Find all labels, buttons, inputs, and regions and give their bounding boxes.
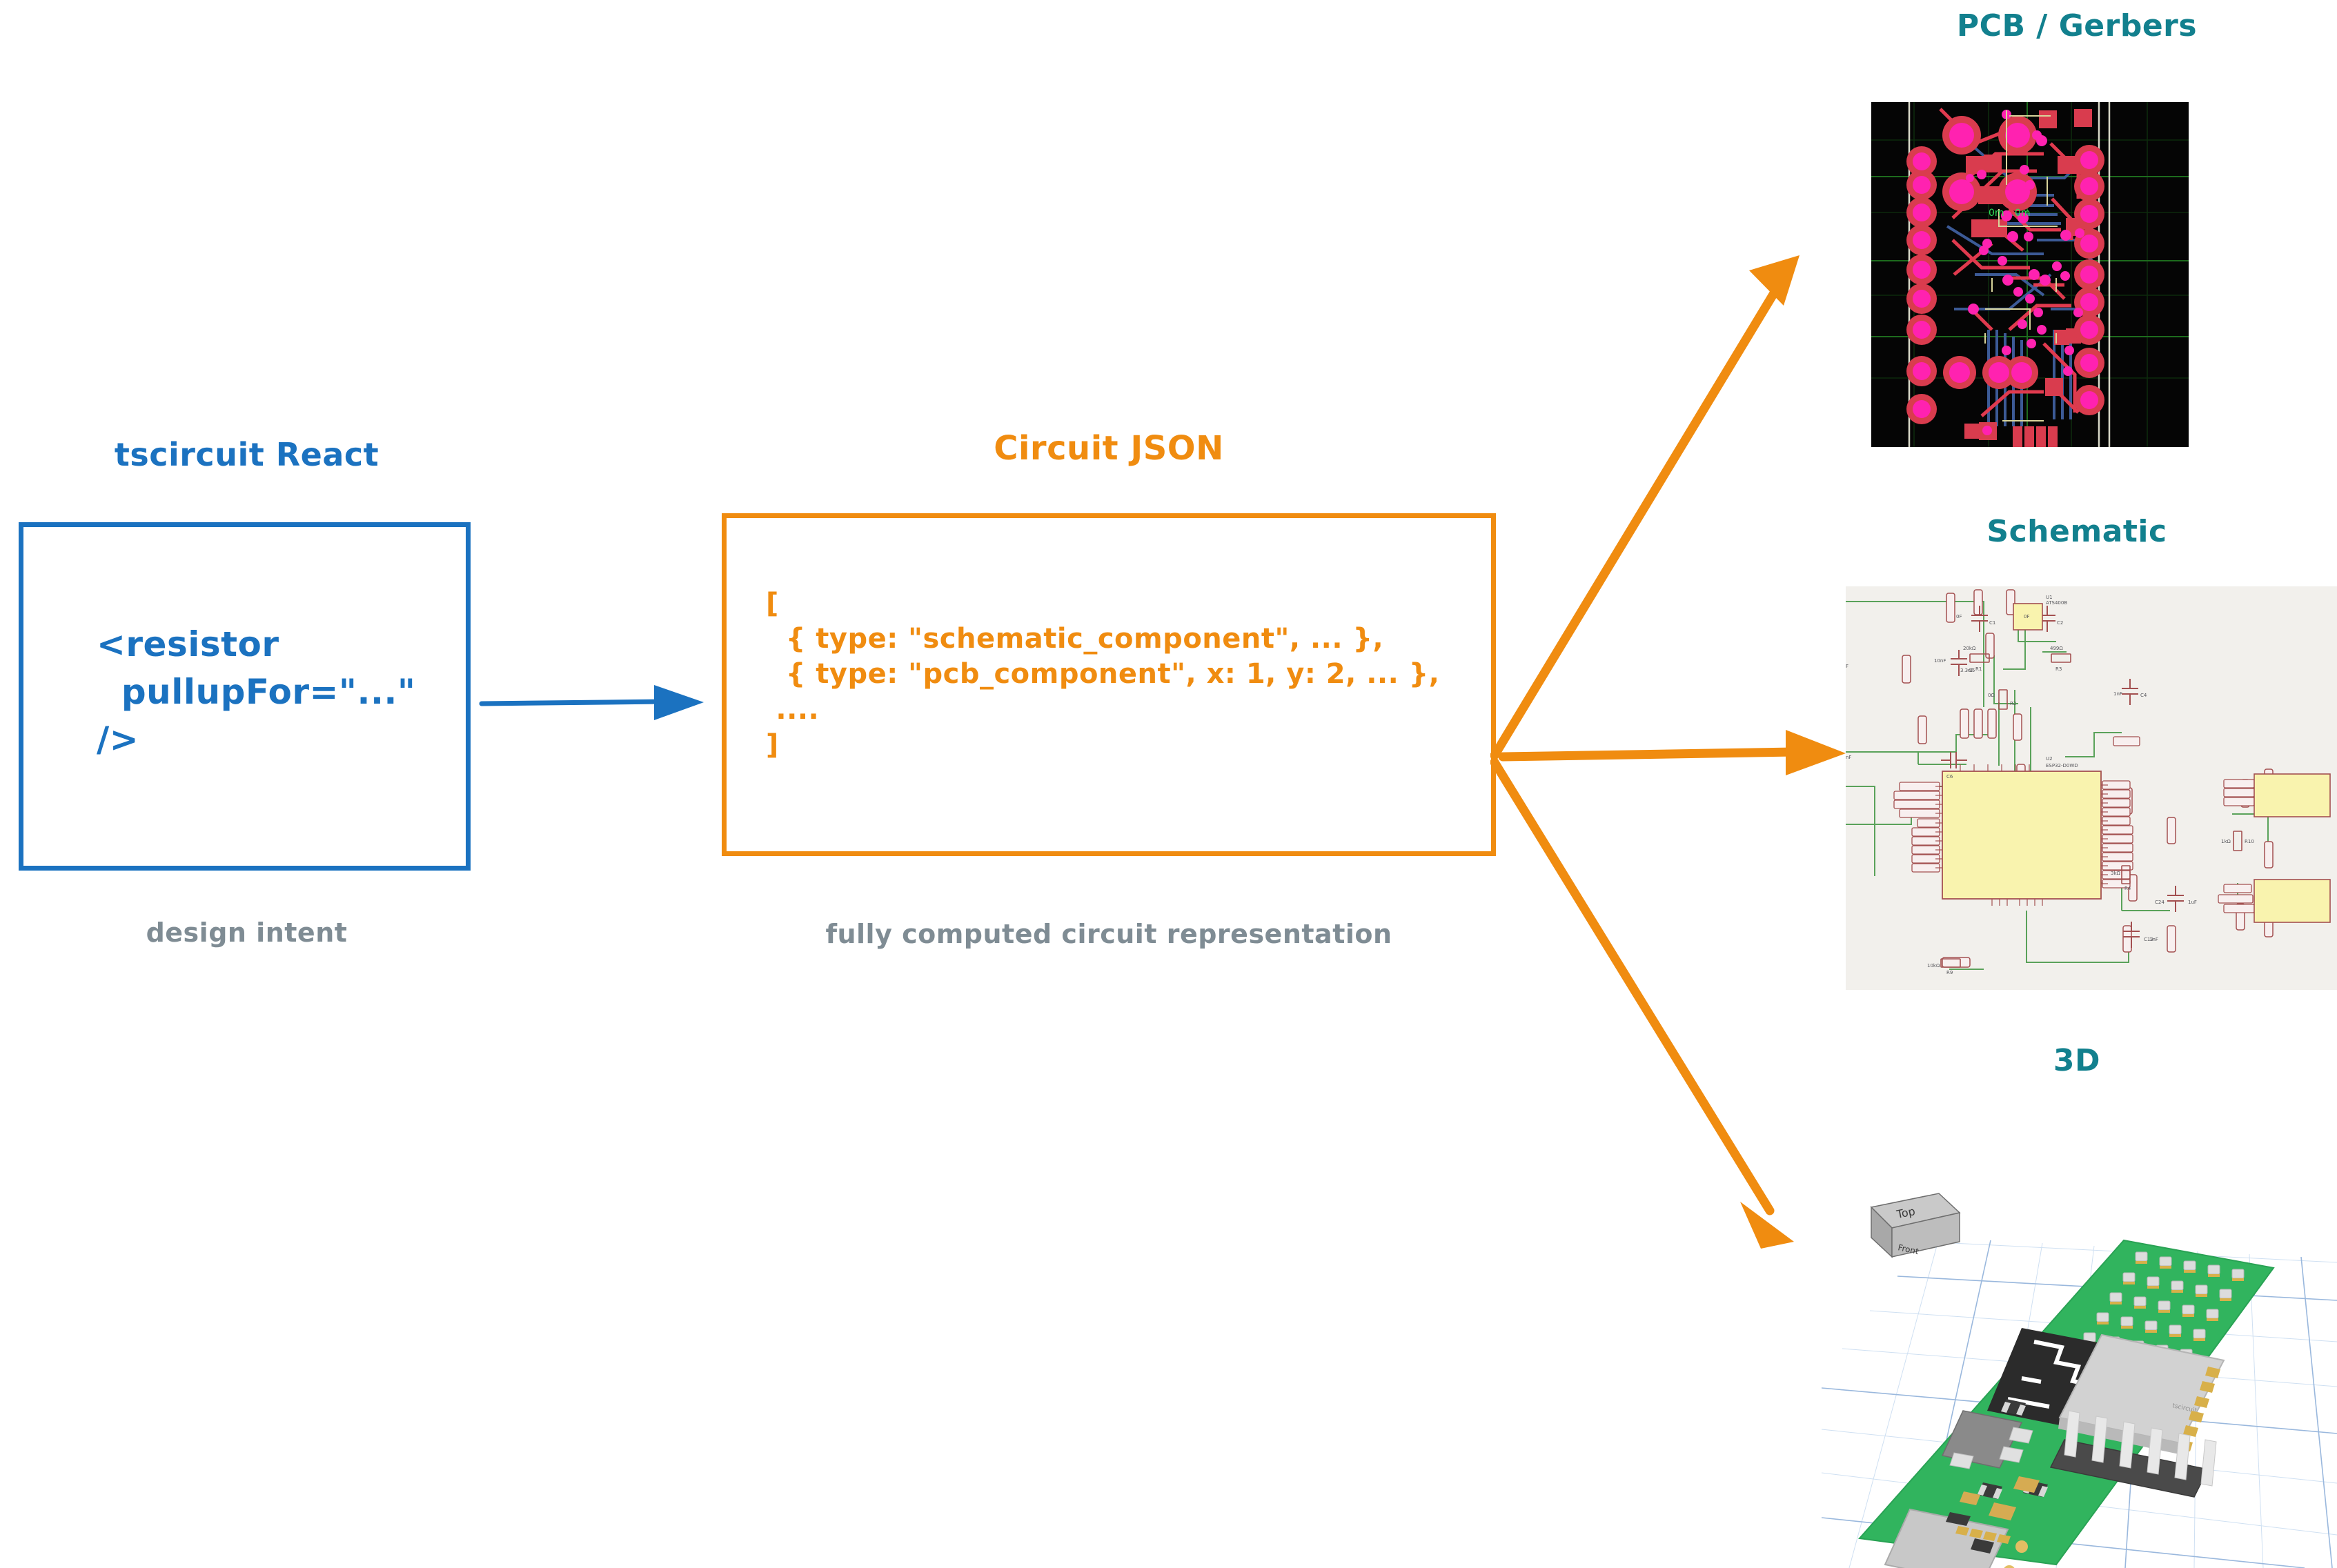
svg-text:R3: R3 xyxy=(2055,666,2062,672)
schematic-title: Schematic xyxy=(1835,514,2318,549)
svg-text:3.3nF: 3.3nF xyxy=(1960,668,1974,673)
circuit-json-caption: fully computed circuit representation xyxy=(722,919,1496,949)
svg-text:C24: C24 xyxy=(2155,900,2165,905)
svg-text:0Ω: 0Ω xyxy=(1988,693,1995,698)
schematic-artwork: C1 C2 C5 C6 C4 C24 C19 R1 R2 R3 R4 R9 R1… xyxy=(1846,586,2337,990)
svg-text:F: F xyxy=(1846,664,1848,669)
svg-text:0F: 0F xyxy=(1956,614,1962,619)
svg-text:ESP32-D0WD: ESP32-D0WD xyxy=(2046,763,2078,768)
svg-text:U1: U1 xyxy=(2046,595,2053,600)
arrow-react-to-json xyxy=(476,662,724,745)
three-d-panel[interactable]: Top Front xyxy=(1822,1104,2337,1568)
tscircuit-react-code: <resistor pullupFor="..." /> xyxy=(97,621,415,764)
circuit-json-title: Circuit JSON xyxy=(722,429,1496,468)
pcb-gerbers-title: PCB / Gerbers xyxy=(1835,8,2318,43)
svg-text:C6: C6 xyxy=(1946,774,1953,780)
svg-text:ATS400B: ATS400B xyxy=(2046,600,2067,606)
svg-text:1uF: 1uF xyxy=(2188,900,2197,905)
svg-text:20kΩ: 20kΩ xyxy=(1963,646,1976,651)
svg-text:499Ω: 499Ω xyxy=(2050,646,2063,651)
arrow-json-to-pcb xyxy=(1495,255,1799,755)
svg-text:1kΩ: 1kΩ xyxy=(2221,839,2231,844)
svg-text:10kΩ: 10kΩ xyxy=(1927,963,1940,969)
pcb-gerbers-panel[interactable]: 0m 0m xyxy=(1871,102,2189,447)
svg-text:nF: nF xyxy=(1846,755,1851,760)
pcb-overlay-label-1: 0m xyxy=(2015,208,2031,219)
pcb-artwork: 0m 0m xyxy=(1871,102,2189,447)
arrow-json-to-schematic xyxy=(1503,730,1846,775)
svg-text:1nF: 1nF xyxy=(2149,937,2158,942)
pcb-overlay-label-0: 0m xyxy=(1989,208,2004,219)
svg-text:R4: R4 xyxy=(2124,886,2131,891)
arrow-json-to-3d xyxy=(1495,762,1794,1249)
svg-text:0F: 0F xyxy=(2024,614,2029,619)
svg-text:R2: R2 xyxy=(2010,701,2016,706)
three-d-title: 3D xyxy=(1835,1043,2318,1078)
svg-text:C2: C2 xyxy=(2057,620,2063,626)
tscircuit-react-title: tscircuit React xyxy=(0,436,493,473)
svg-text:U2: U2 xyxy=(2046,756,2053,762)
svg-text:R1: R1 xyxy=(1975,666,1982,672)
circuit-json-code: [ { type: "schematic_component", ... }, … xyxy=(766,586,1439,763)
schematic-panel[interactable]: C1 C2 C5 C6 C4 C24 C19 R1 R2 R3 R4 R9 R1… xyxy=(1846,586,2337,990)
svg-text:C4: C4 xyxy=(2140,693,2147,698)
three-d-artwork: Top Front xyxy=(1822,1104,2337,1568)
svg-text:R10: R10 xyxy=(2245,839,2254,844)
schematic-chip-u2 xyxy=(1942,771,2101,899)
svg-text:1nF: 1nF xyxy=(2113,691,2122,697)
arrow-group-json-outputs xyxy=(1490,255,1863,1256)
svg-text:3kΩ: 3kΩ xyxy=(2111,871,2121,876)
svg-text:C1: C1 xyxy=(1989,620,1995,626)
svg-text:R9: R9 xyxy=(1946,970,1953,975)
design-intent-caption: design intent xyxy=(0,917,493,948)
svg-text:10nF: 10nF xyxy=(1934,658,1946,664)
